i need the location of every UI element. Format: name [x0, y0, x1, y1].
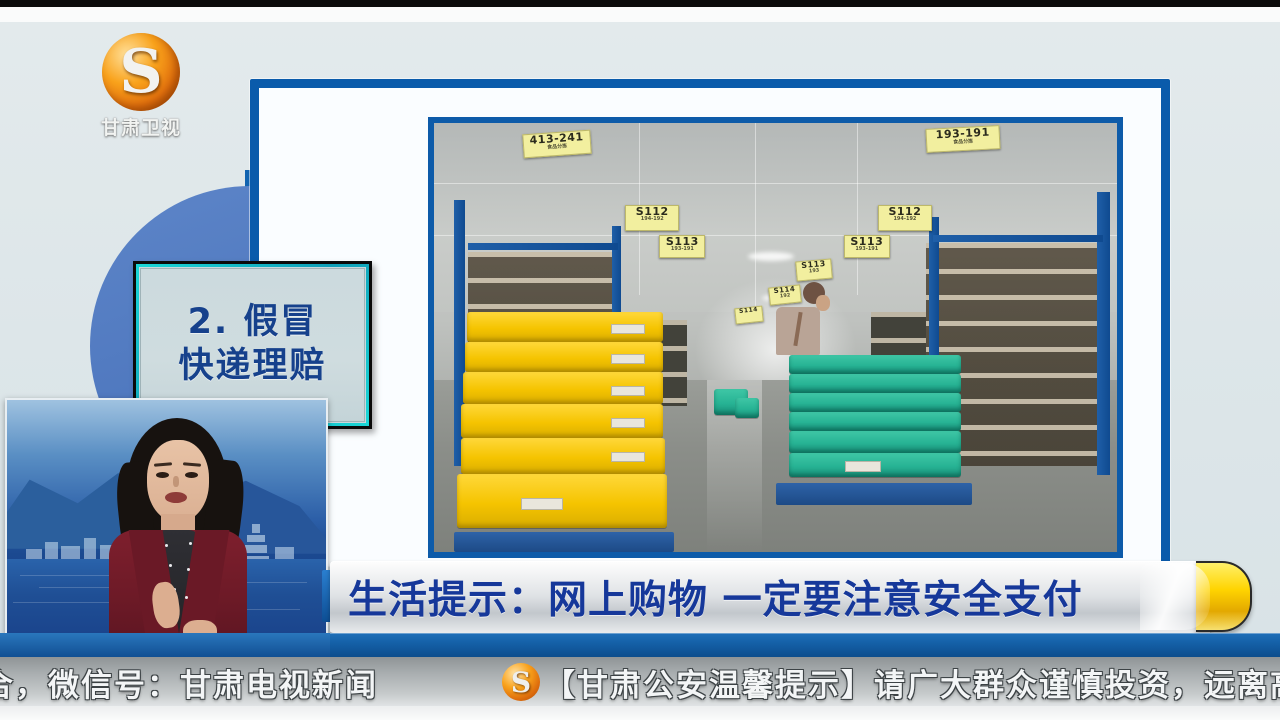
lower-third: 生活提示：网上购物 一定要注意安全支付 [330, 561, 1250, 632]
crate-label [611, 452, 645, 462]
shelf-tag: S113 193-191 [844, 235, 890, 258]
warehouse-footage: 413-241 食品分拣 193-191 食品分拣 S112 194-192 S… [434, 123, 1117, 552]
broadcast-screen: 413-241 食品分拣 193-191 食品分拣 S112 194-192 S… [0, 0, 1280, 720]
ticker-text-before-logo: 合，微信号：甘肃电视新闻 [0, 660, 378, 705]
shelf-tag: 413-241 食品分拣 [522, 129, 592, 158]
cart-pallet [776, 483, 972, 505]
ticker-scroll: 合，微信号：甘肃电视新闻 【甘肃公安温馨提示】请广大群众谨慎投资，远离高利 [0, 657, 1280, 707]
news-ticker: 合，微信号：甘肃电视新闻 【甘肃公安温馨提示】请广大群众谨慎投资，远离高利 [0, 657, 1280, 720]
crate-label [611, 354, 645, 364]
caption-line-2: 快递理赔 [178, 345, 326, 389]
anchor-eye [185, 472, 198, 478]
ticker-text-after-logo: 【甘肃公安温馨提示】请广大群众谨慎投资，远离高利 [544, 660, 1280, 705]
crate [789, 393, 961, 412]
channel-name: 甘肃卫视 [86, 113, 196, 140]
blue-divider-band-left [0, 633, 330, 657]
anchor-nose [173, 476, 179, 487]
rack-beam [468, 243, 618, 250]
ceiling-lamp-icon [748, 252, 794, 261]
shelf-tag: S112 194-192 [878, 205, 932, 231]
shelf-tag: 193-191 食品分拣 [925, 125, 1000, 153]
rack-beam [933, 235, 1104, 242]
channel-logo: S 甘肃卫视 [86, 33, 196, 141]
crate [789, 374, 961, 393]
top-white-bar [0, 7, 1280, 22]
ceiling-line [857, 123, 858, 295]
crate-label [611, 418, 645, 428]
caption-line-1: 2. 假冒 [188, 301, 318, 345]
yellow-crate-stack [461, 312, 666, 552]
ticker-base-strip [0, 706, 1280, 720]
green-crate-stack [789, 355, 964, 475]
shelf-tag: S113 193-191 [659, 235, 705, 258]
anchor-eye [156, 472, 169, 478]
crate-label [611, 324, 645, 334]
anchor-mouth [165, 492, 187, 503]
video-window: 413-241 食品分拣 193-191 食品分拣 S112 194-192 S… [428, 117, 1123, 558]
crate-label [611, 386, 645, 396]
gansu-tv-s-logo-icon [502, 663, 540, 701]
lower-third-sheen [1140, 563, 1210, 630]
shelf-tag: S113 193 [795, 259, 833, 282]
crate [789, 355, 961, 374]
cart-pallet [454, 532, 674, 552]
top-black-bar [0, 0, 1280, 7]
ceiling-line [434, 183, 1117, 184]
logo-letter: S [102, 33, 180, 111]
crate [789, 431, 961, 453]
shelf-tag: S112 194-192 [625, 205, 679, 231]
lower-third-headline: 生活提示：网上购物 一定要注意安全支付 [348, 561, 1083, 632]
crate [735, 398, 759, 418]
shelf-tag: S114 192 [768, 284, 802, 305]
anchor-pip [5, 398, 328, 650]
crate-label [521, 498, 563, 510]
crate [789, 412, 961, 431]
news-anchor [103, 418, 253, 650]
crate-label [845, 461, 881, 472]
